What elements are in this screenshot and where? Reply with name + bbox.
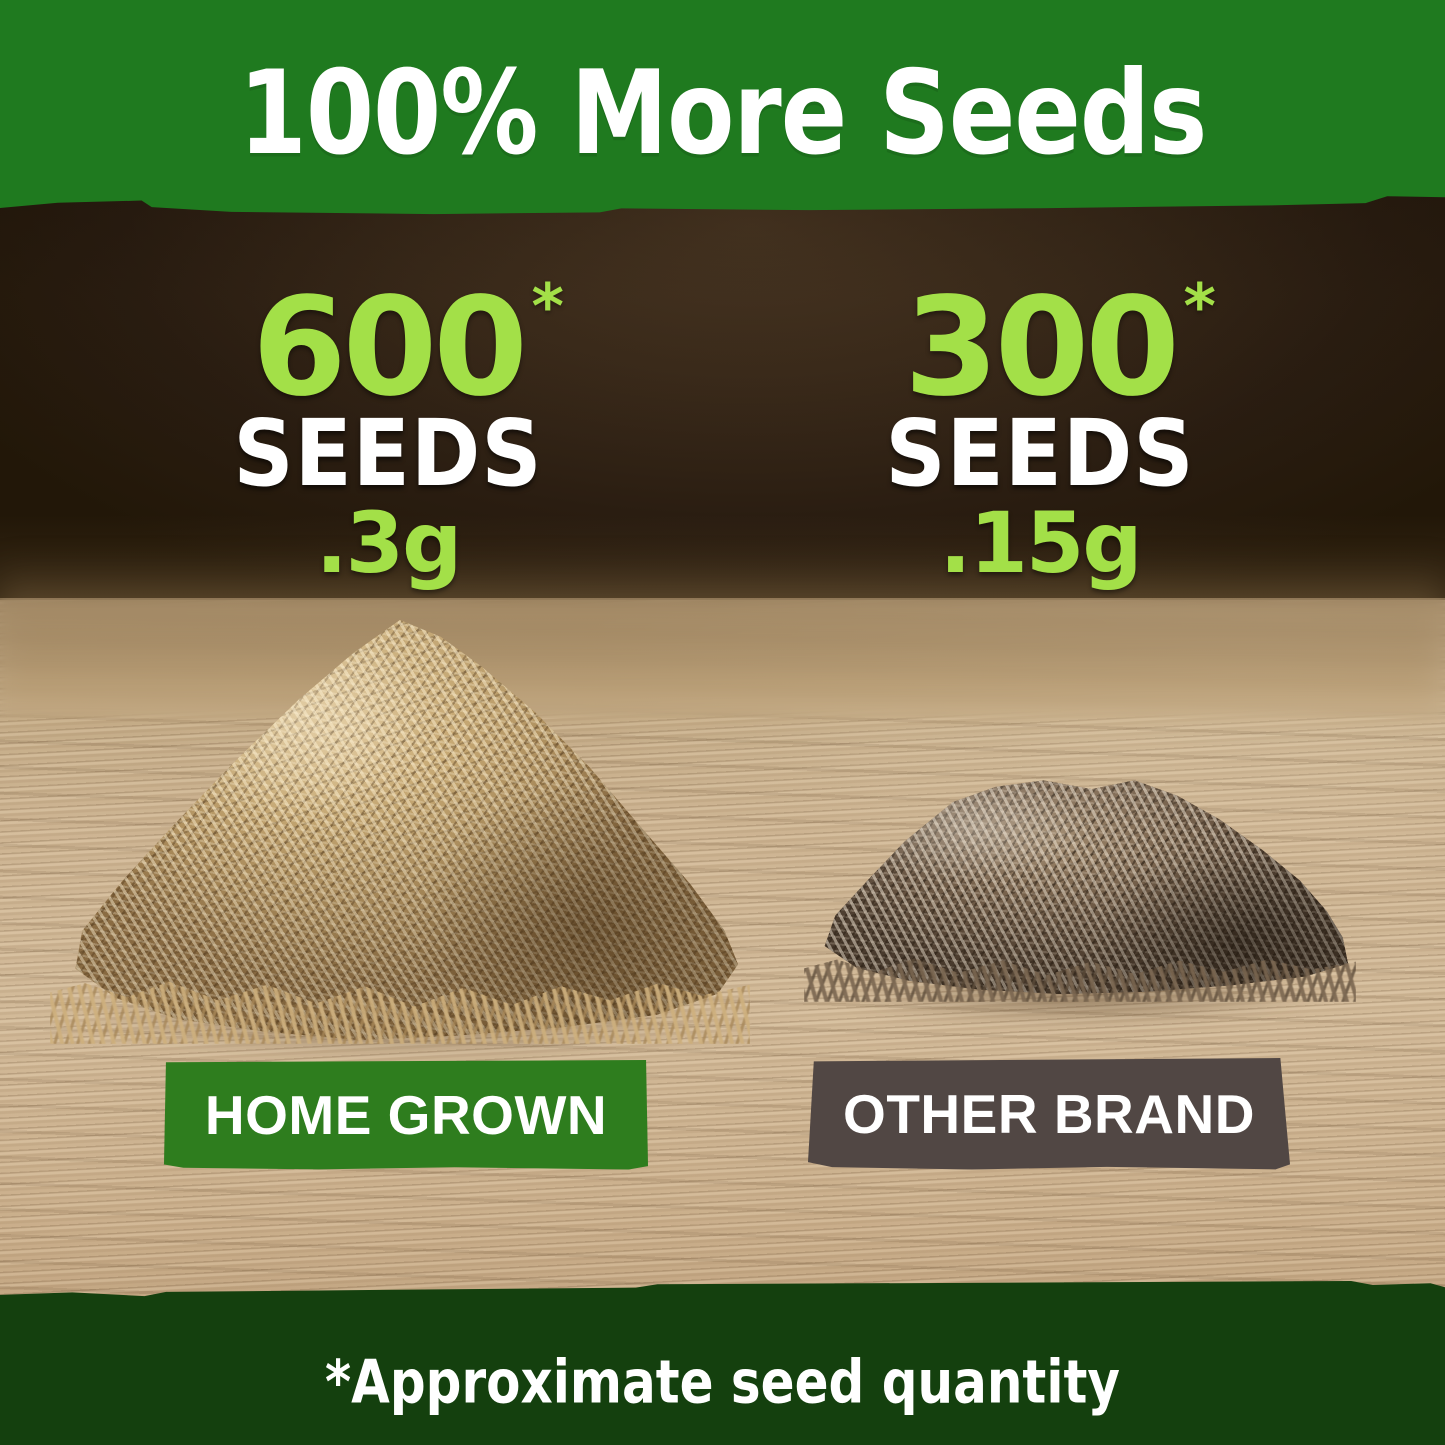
product-comparison-infographic: 100% More Seeds 600 * SEEDS .3g 300 * SE… bbox=[0, 0, 1445, 1445]
seed-count-row: 300 * bbox=[904, 282, 1176, 415]
seed-pile-mound bbox=[62, 620, 738, 1040]
seed-count-unit: SEEDS bbox=[143, 409, 633, 501]
seed-count-value: 600 bbox=[252, 282, 524, 415]
seed-weight-value: .15g bbox=[800, 501, 1280, 585]
seed-weight-value: .3g bbox=[148, 501, 628, 585]
asterisk-icon: * bbox=[532, 276, 564, 338]
footnote-text: *Approximate seed quantity bbox=[0, 1352, 1445, 1412]
seed-pile-home-grown bbox=[40, 610, 760, 1060]
seed-count-value: 300 bbox=[904, 282, 1176, 415]
label-bar-home-grown: HOME GROWN bbox=[164, 1060, 648, 1170]
label-bar-other-brand: OTHER BRAND bbox=[808, 1058, 1290, 1170]
asterisk-icon: * bbox=[1184, 276, 1216, 338]
seed-pile-other-brand bbox=[796, 770, 1366, 1045]
stat-block-home-grown: 600 * SEEDS .3g bbox=[148, 282, 628, 585]
page-title: 100% More Seeds bbox=[0, 56, 1445, 172]
seed-count-row: 600 * bbox=[252, 282, 524, 415]
seed-count-unit: SEEDS bbox=[795, 409, 1285, 501]
stat-block-other-brand: 300 * SEEDS .15g bbox=[800, 282, 1280, 585]
